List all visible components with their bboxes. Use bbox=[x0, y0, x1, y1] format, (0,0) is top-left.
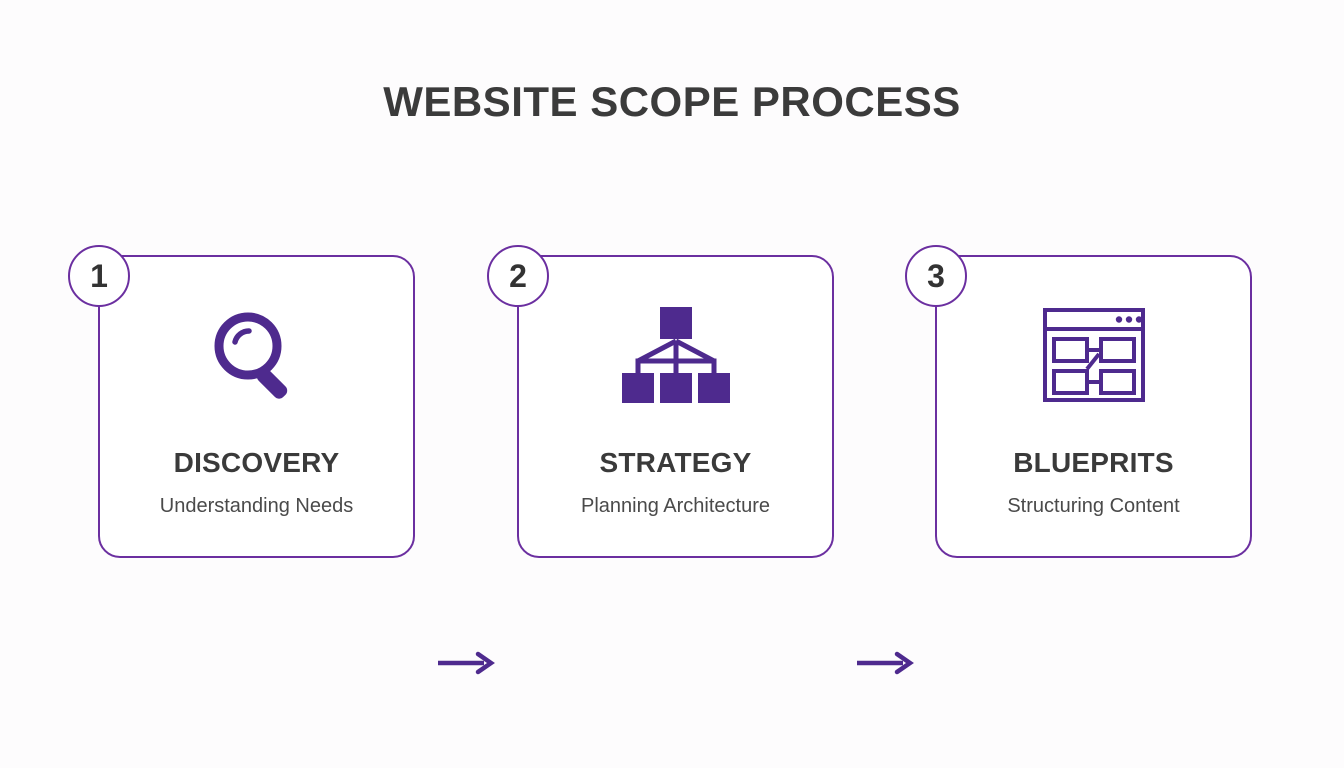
arrow-right-icon-1 bbox=[436, 649, 496, 677]
step-subtitle-3: Structuring Content bbox=[937, 495, 1250, 518]
step-card-3[interactable]: 3 bbox=[935, 255, 1252, 558]
step-title-2: STRATEGY bbox=[519, 447, 832, 479]
hierarchy-icon bbox=[519, 299, 832, 411]
wireframe-icon bbox=[937, 299, 1250, 411]
step-number-badge-3: 3 bbox=[905, 245, 967, 307]
slide-canvas: WEBSITE SCOPE PROCESS 1 DISCOVERY Unders… bbox=[0, 0, 1344, 768]
magnifier-icon bbox=[100, 299, 413, 411]
process-steps-row: 1 DISCOVERY Understanding Needs 2 bbox=[0, 255, 1344, 565]
step-subtitle-2: Planning Architecture bbox=[519, 495, 832, 518]
step-subtitle-1: Understanding Needs bbox=[100, 495, 413, 518]
step-card-2[interactable]: 2 STRATEGY Planning Architecture bbox=[517, 255, 834, 558]
page-title: WEBSITE SCOPE PROCESS bbox=[0, 78, 1344, 126]
step-number-badge-2: 2 bbox=[487, 245, 549, 307]
step-title-1: DISCOVERY bbox=[100, 447, 413, 479]
step-title-3: BLUEPRITS bbox=[937, 447, 1250, 479]
step-number-badge-1: 1 bbox=[68, 245, 130, 307]
arrow-right-icon-2 bbox=[855, 649, 915, 677]
step-card-1[interactable]: 1 DISCOVERY Understanding Needs bbox=[98, 255, 415, 558]
